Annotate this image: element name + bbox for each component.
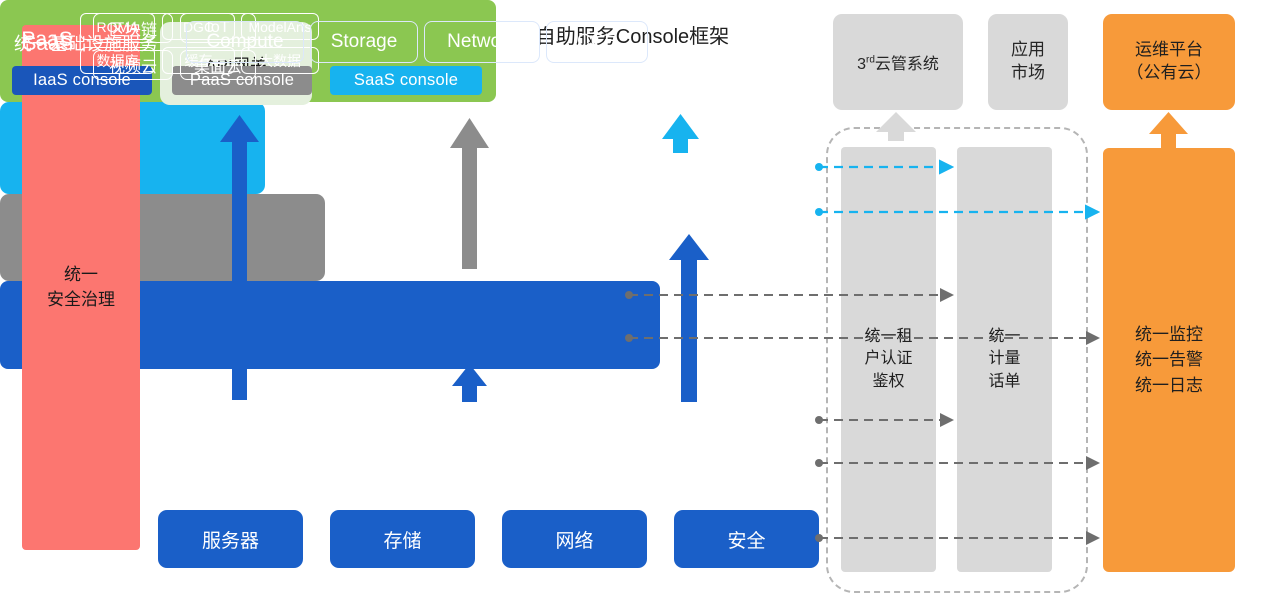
third-party-cloud-label: 3rd云管系统 xyxy=(857,50,939,74)
infra-chip-network[interactable]: Network xyxy=(424,21,540,63)
monitoring-line1: 统一监控 xyxy=(1135,322,1203,348)
pillar-unified-tenant-auth: 统一租 户认证 鉴权 xyxy=(841,147,936,572)
pillar-metering-label: 统一 计量 话单 xyxy=(988,326,1020,393)
third-party-superscript: rd xyxy=(866,55,875,66)
infra-chip-cce[interactable]: CCE xyxy=(546,21,648,63)
ops-platform-box: 运维平台 （公有云） xyxy=(1103,14,1235,110)
security-governance-line1: 统一 xyxy=(47,263,115,288)
third-party-prefix: 3 xyxy=(857,56,866,73)
arrow-infra-to-paas xyxy=(452,364,487,402)
ops-platform-line2: （公有云） xyxy=(1127,62,1212,85)
app-market-line1: 应用 xyxy=(1011,39,1045,62)
arrow-saas-to-console xyxy=(662,114,699,153)
monitoring-column: 统一监控 统一告警 统一日志 xyxy=(1103,148,1235,572)
third-party-cloud-management-box: 3rd云管系统 xyxy=(833,14,963,110)
infra-chip-compute[interactable]: Compute xyxy=(186,21,304,63)
monitoring-line3: 统一日志 xyxy=(1135,373,1203,399)
saas-console-chip[interactable]: SaaS console xyxy=(330,66,482,95)
security-governance-line2: 安全治理 xyxy=(47,288,115,313)
arrow-paas-to-console xyxy=(450,118,489,269)
ops-platform-line1: 运维平台 xyxy=(1127,39,1212,62)
infra-chip-storage[interactable]: Storage xyxy=(310,21,418,63)
app-market-box: 应用 市场 xyxy=(988,14,1068,110)
hardware-box-storage[interactable]: 存储 xyxy=(330,510,475,568)
pillar-unified-metering: 统一 计量 话单 xyxy=(957,147,1052,572)
security-governance-column: 统一 安全治理 xyxy=(22,25,140,550)
architecture-diagram: 统一 安全治理 API网关 自助服务Console框架 IaaS console… xyxy=(0,0,1265,605)
third-party-suffix: 云管系统 xyxy=(875,56,939,73)
unified-infrastructure-label: 统一基础设施服务 xyxy=(14,30,158,56)
monitoring-line2: 统一告警 xyxy=(1135,347,1203,373)
pillar-auth-label: 统一租 户认证 鉴权 xyxy=(864,326,912,393)
hardware-box-server[interactable]: 服务器 xyxy=(158,510,303,568)
app-market-line2: 市场 xyxy=(1011,62,1045,85)
hardware-box-network[interactable]: 网络 xyxy=(502,510,647,568)
arrow-monitoring-to-ops-platform xyxy=(1149,112,1188,149)
arrow-infra-to-saas xyxy=(669,234,709,402)
hardware-box-security[interactable]: 安全 xyxy=(674,510,819,568)
